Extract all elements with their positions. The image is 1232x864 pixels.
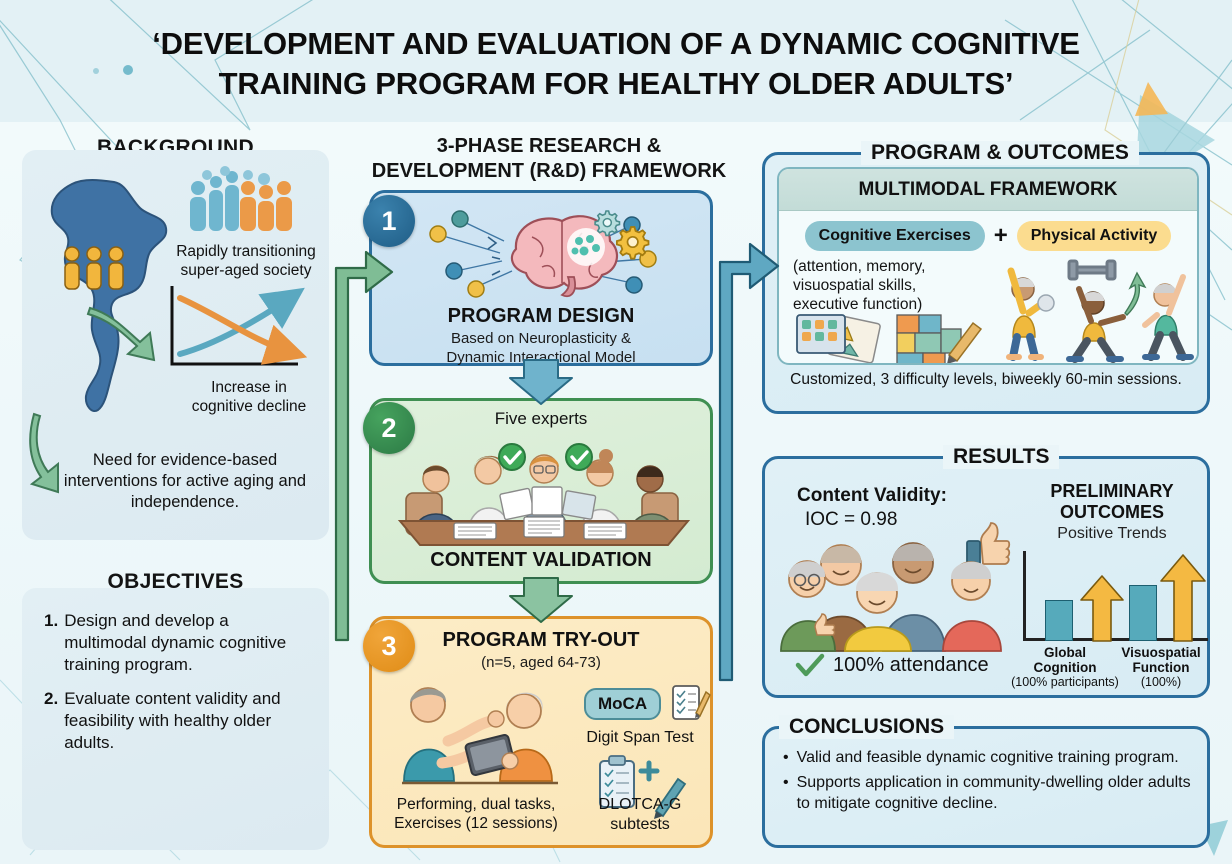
- conclusions-panel: CONCLUSIONS • Valid and feasible dynamic…: [762, 726, 1210, 848]
- dlotca-label: DLOTCA-G subtests: [572, 795, 708, 835]
- framework-heading: 3-PHASE RESEARCH & DEVELOPMENT (R&D) FRA…: [352, 134, 746, 184]
- phase2-to-phase3-arrow-icon: [506, 578, 576, 624]
- check-icon: [795, 653, 825, 677]
- cognitive-decline-chart-icon: [166, 282, 306, 382]
- phase-3-left-caption: Performing, dual tasks, Exercises (12 se…: [378, 795, 574, 833]
- objectives-panel: 1. Design and develop a multimodal dynam…: [22, 588, 329, 850]
- program-outcomes-heading: PROGRAM & OUTCOMES: [861, 141, 1139, 165]
- objective-text: Design and develop a multimodal dynamic …: [64, 610, 312, 676]
- preliminary-outcomes-title: PRELIMINARY OUTCOMES: [1017, 481, 1207, 523]
- phase-2-badge: 2: [363, 402, 415, 454]
- preliminary-outcomes-subtitle: Positive Trends: [1017, 525, 1207, 543]
- attendance-text: 100% attendance: [833, 654, 989, 677]
- phase-3-subtitle: (n=5, aged 64-73): [372, 653, 710, 672]
- bullet-icon: •: [783, 772, 789, 814]
- population-caption-line-2: super-aged society: [170, 261, 322, 280]
- content-validity-label: Content Validity:: [797, 485, 947, 507]
- page-title: ‘DEVELOPMENT AND EVALUATION OF A DYNAMIC…: [116, 24, 1116, 104]
- preliminary-outcomes-title-line-1: PRELIMINARY: [1017, 481, 1207, 502]
- phase-1-title: PROGRAM DESIGN: [372, 305, 710, 328]
- cognitive-detail-text: (attention, memory, visuospatial skills,…: [793, 257, 983, 314]
- objective-number: 2.: [44, 688, 58, 754]
- phase-3-badge: 3: [363, 620, 415, 672]
- cognitive-detail-line-2: visuospatial skills,: [793, 276, 983, 295]
- phase-1-subtitle-line-1: Based on Neuroplasticity &: [372, 329, 710, 348]
- ioc-value: IOC = 0.98: [805, 509, 897, 531]
- decline-caption: Increase in cognitive decline: [174, 378, 324, 416]
- decline-caption-line-1: Increase in: [174, 378, 324, 397]
- cognitive-materials-icon: [793, 311, 989, 365]
- chart-category-label-visuospatial: Visuospatial Function: [1113, 645, 1209, 675]
- chart-category-sublabel-global-cognition: (100% participants): [1009, 675, 1121, 689]
- arrow-visuospatial-improvement: [1161, 555, 1205, 641]
- digit-span-label: Digit Span Test: [572, 729, 708, 747]
- framework-heading-line-2: DEVELOPMENT (R&D) FRAMEWORK: [352, 159, 746, 184]
- map-to-chart-arrow-icon: [84, 302, 174, 372]
- phase-3-left-caption-line-1: Performing, dual tasks,: [378, 795, 574, 814]
- pill-physical-activity: Physical Activity: [1017, 221, 1172, 251]
- phase-2-caption: Five experts: [372, 409, 710, 429]
- multimodal-framework-card: MULTIMODAL FRAMEWORK Cognitive Exercises…: [777, 167, 1199, 365]
- chart-y-axis: [1023, 551, 1026, 641]
- phase1-to-phase2-arrow-icon: [506, 360, 576, 406]
- cognitive-detail-line-1: (attention, memory,: [793, 257, 983, 276]
- page-title-line-2: TRAINING PROGRAM FOR HEALTHY OLDER ADULT…: [116, 64, 1116, 104]
- outcomes-bar-chart: [1023, 551, 1208, 641]
- population-caption-line-1: Rapidly transitioning: [170, 242, 322, 261]
- page-title-line-1: ‘DEVELOPMENT AND EVALUATION OF A DYNAMIC…: [116, 24, 1116, 64]
- physical-activity-icon: [997, 255, 1197, 361]
- bar-visuospatial-baseline: [1129, 585, 1157, 641]
- moca-row: MoCA: [584, 683, 711, 725]
- decline-caption-line-2: cognitive decline: [174, 397, 324, 416]
- moca-badge: MoCA: [584, 688, 661, 720]
- objective-item: 1. Design and develop a multimodal dynam…: [44, 610, 312, 676]
- program-outcomes-panel: PROGRAM & OUTCOMES MULTIMODAL FRAMEWORK …: [762, 152, 1210, 414]
- brain-network-gears-icon: [396, 201, 696, 297]
- objective-number: 1.: [44, 610, 58, 676]
- checklist-pencil-icon: [669, 683, 711, 725]
- phase-1-badge: 1: [363, 195, 415, 247]
- results-panel: RESULTS Content Validity: IOC = 0.98: [762, 456, 1210, 698]
- population-caption: Rapidly transitioning super-aged society: [170, 242, 322, 280]
- arrow-global-cognition-improvement: [1081, 576, 1123, 641]
- conclusion-text: Valid and feasible dynamic cognitive tra…: [797, 747, 1179, 768]
- bar-global-cognition-baseline: [1045, 600, 1073, 641]
- background-need-text: Need for evidence-based interventions fo…: [52, 450, 318, 513]
- gear-small-icon: [595, 211, 619, 235]
- conclusion-item: • Valid and feasible dynamic cognitive t…: [783, 747, 1197, 768]
- conclusion-text: Supports application in community-dwelli…: [797, 772, 1197, 814]
- chart-category-label-global-cognition: Global Cognition: [1017, 645, 1113, 675]
- conclusions-heading: CONCLUSIONS: [779, 715, 954, 739]
- phase-2-title: CONTENT VALIDATION: [372, 549, 710, 572]
- gear-large-icon: [617, 227, 649, 259]
- pill-cognitive-exercises: Cognitive Exercises: [805, 221, 985, 251]
- phase-3-left-caption-line-2: Exercises (12 sessions): [378, 814, 574, 833]
- phase-3-title: PROGRAM TRY-OUT: [372, 629, 710, 652]
- preliminary-outcomes-title-line-2: OUTCOMES: [1017, 502, 1207, 523]
- expert-panel-meeting-icon: [384, 435, 704, 545]
- chart-category-sublabel-visuospatial: (100%): [1117, 675, 1205, 689]
- objective-text: Evaluate content validity and feasibilit…: [64, 688, 312, 754]
- objectives-list: 1. Design and develop a multimodal dynam…: [44, 610, 312, 766]
- framework-heading-line-1: 3-PHASE RESEARCH &: [352, 134, 746, 159]
- population-group-icon: [180, 166, 300, 238]
- phase-1-program-design-box: PROGRAM DESIGN Based on Neuroplasticity …: [369, 190, 713, 366]
- attendance-row: 100% attendance: [795, 653, 989, 677]
- plus-symbol: +: [994, 222, 1008, 250]
- background-panel: Rapidly transitioning super-aged society…: [22, 150, 329, 540]
- bullet-icon: •: [783, 747, 789, 768]
- multimodal-framework-title: MULTIMODAL FRAMEWORK: [779, 169, 1197, 211]
- phase-2-content-validation-box: Five experts: [369, 398, 713, 584]
- conclusion-item: • Supports application in community-dwel…: [783, 772, 1197, 814]
- dlotca-label-line-2: subtests: [572, 815, 708, 835]
- dlotca-label-line-1: DLOTCA-G: [572, 795, 708, 815]
- older-adults-group-icon: [781, 531, 1003, 655]
- results-heading: RESULTS: [943, 445, 1059, 469]
- phase3-to-program-arrow-icon: [706, 232, 786, 692]
- phase-3-program-tryout-box: PROGRAM TRY-OUT (n=5, aged 64-73) Perfor…: [369, 616, 713, 848]
- objective-item: 2. Evaluate content validity and feasibi…: [44, 688, 312, 754]
- program-footnote: Customized, 3 difficulty levels, biweekl…: [765, 371, 1207, 389]
- thailand-map-icon: [28, 166, 178, 426]
- trainer-and-older-adult-tablet-icon: [382, 677, 568, 795]
- conclusions-list: • Valid and feasible dynamic cognitive t…: [783, 747, 1197, 818]
- modality-pills-row: Cognitive Exercises + Physical Activity: [779, 221, 1197, 251]
